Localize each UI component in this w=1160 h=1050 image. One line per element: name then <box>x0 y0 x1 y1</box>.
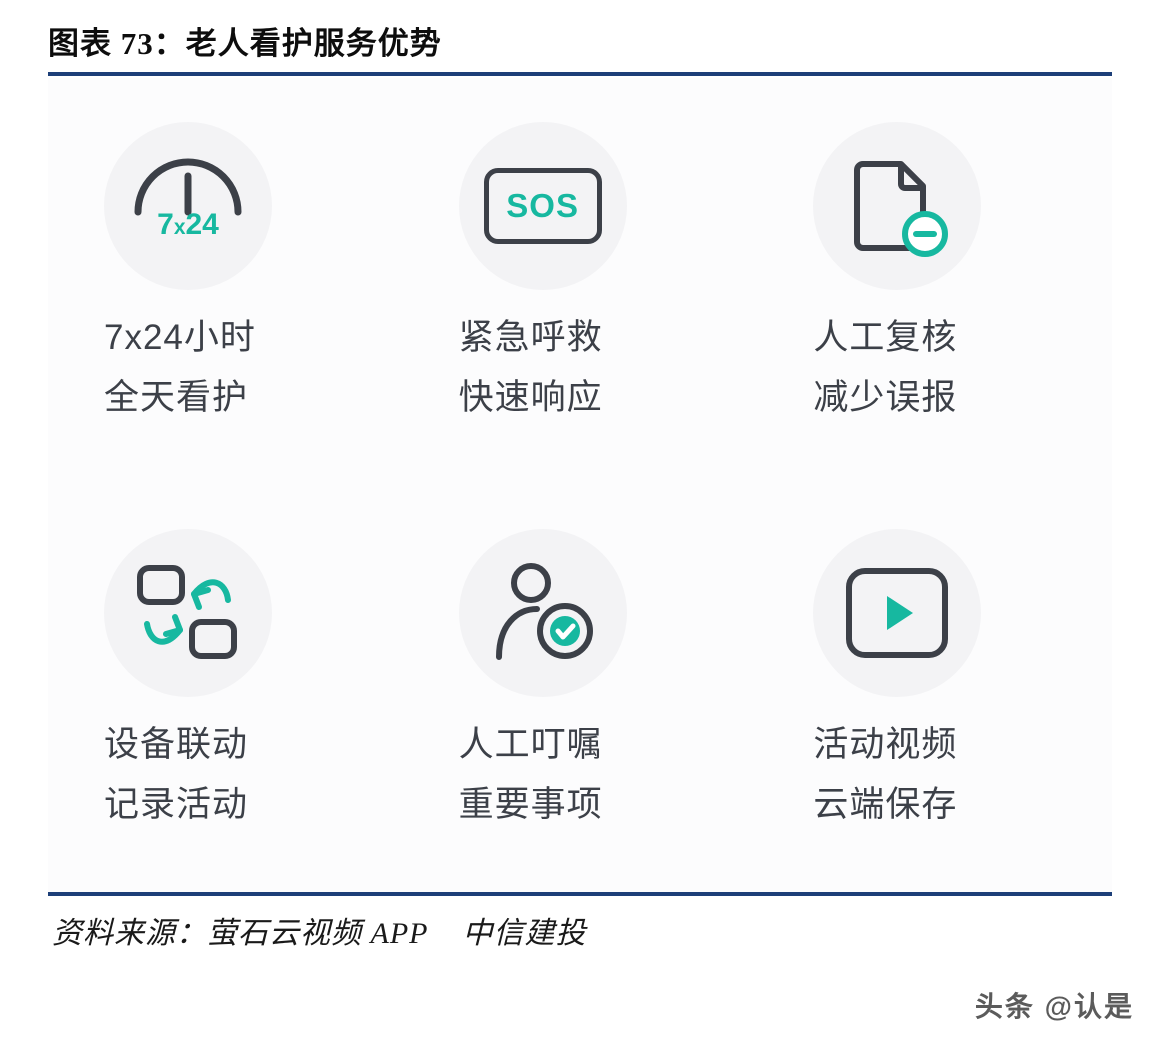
figure-page: 图表 73：老人看护服务优势 7x24 7x24小时 全天看护 <box>0 0 1160 1050</box>
feature-item: 设备联动 记录活动 <box>48 485 403 892</box>
icon-badge <box>104 529 272 697</box>
source-label: 资料来源： <box>52 917 207 950</box>
source-org: 中信建投 <box>462 917 586 950</box>
feature-grid: 7x24 7x24小时 全天看护 SOS 紧急呼救 快速响应 <box>48 78 1112 892</box>
feature-item: 活动视频 云端保存 <box>757 485 1112 892</box>
feature-line-2: 记录活动 <box>104 775 248 835</box>
feature-line-2: 重要事项 <box>459 775 603 835</box>
feature-line-2: 快速响应 <box>459 368 603 428</box>
feature-line-1: 活动视频 <box>813 715 957 775</box>
feature-item: SOS 紧急呼救 快速响应 <box>403 78 758 485</box>
footer-divider <box>48 892 1112 896</box>
icon-badge <box>813 122 981 290</box>
sos-label: SOS <box>506 187 579 225</box>
feature-line-1: 人工叮嘱 <box>459 715 603 775</box>
source-note: 资料来源：萤石云视频 APP中信建投 <box>52 908 586 952</box>
feature-item: 7x24 7x24小时 全天看护 <box>48 78 403 485</box>
feature-line-2: 减少误报 <box>813 368 957 428</box>
source-value: 萤石云视频 APP <box>207 917 428 950</box>
icon-badge: 7x24 <box>104 122 272 290</box>
icon-badge <box>459 529 627 697</box>
feature-item: 人工叮嘱 重要事项 <box>403 485 758 892</box>
watermark: 头条 @认是 <box>975 985 1134 1025</box>
icon-badge: SOS <box>459 122 627 290</box>
feature-line-1: 7x24小时 <box>104 308 256 368</box>
clock-label: 7x24 <box>128 208 248 242</box>
sos-icon: SOS <box>484 168 602 244</box>
content-panel: 7x24 7x24小时 全天看护 SOS 紧急呼救 快速响应 <box>48 78 1112 892</box>
feature-item: 人工复核 减少误报 <box>757 78 1112 485</box>
feature-line-2: 云端保存 <box>813 775 957 835</box>
page-title-text: 图表 73：老人看护服务优势 <box>48 18 442 63</box>
icon-badge <box>813 529 981 697</box>
device-linkage-icon <box>132 560 244 666</box>
feature-line-2: 全天看护 <box>104 368 248 428</box>
document-review-icon <box>841 150 953 262</box>
person-check-icon <box>487 559 599 667</box>
feature-line-1: 设备联动 <box>104 715 248 775</box>
video-play-icon <box>841 563 953 663</box>
page-title: 图表 73：老人看护服务优势 <box>48 14 1112 66</box>
clock-7x24-icon: 7x24 <box>128 156 248 256</box>
title-divider <box>48 72 1112 76</box>
feature-line-1: 人工复核 <box>813 308 957 368</box>
feature-line-1: 紧急呼救 <box>459 308 603 368</box>
